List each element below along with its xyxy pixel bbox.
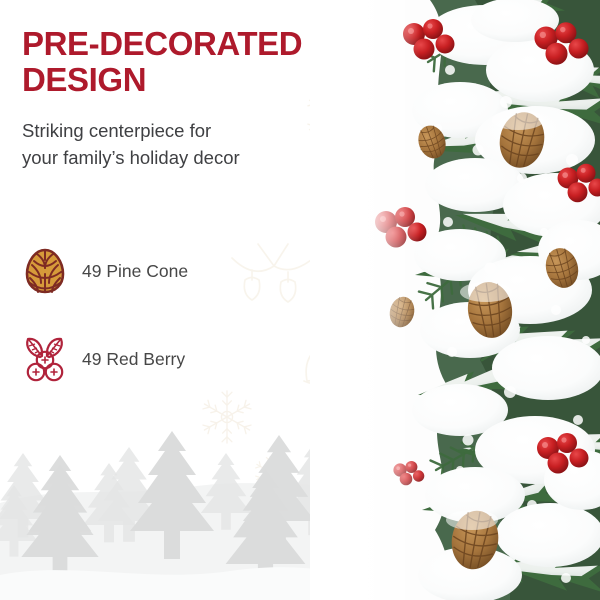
product-feature-banner: PRE-DECORATED DESIGN Striking centerpiec… — [0, 0, 600, 600]
pine-cone-icon — [22, 246, 68, 296]
subtitle-text: Striking centerpiece for your family’s h… — [22, 118, 322, 172]
feature-item-pine-cone: 49 Pine Cone — [22, 246, 188, 296]
red-berry-icon — [22, 334, 68, 384]
text-panel: PRE-DECORATED DESIGN Striking centerpiec… — [0, 0, 360, 600]
feature-label: 49 Red Berry — [82, 349, 185, 370]
page-title: PRE-DECORATED DESIGN — [22, 26, 352, 97]
feature-item-red-berry: 49 Red Berry — [22, 334, 185, 384]
feature-label: 49 Pine Cone — [82, 261, 188, 282]
